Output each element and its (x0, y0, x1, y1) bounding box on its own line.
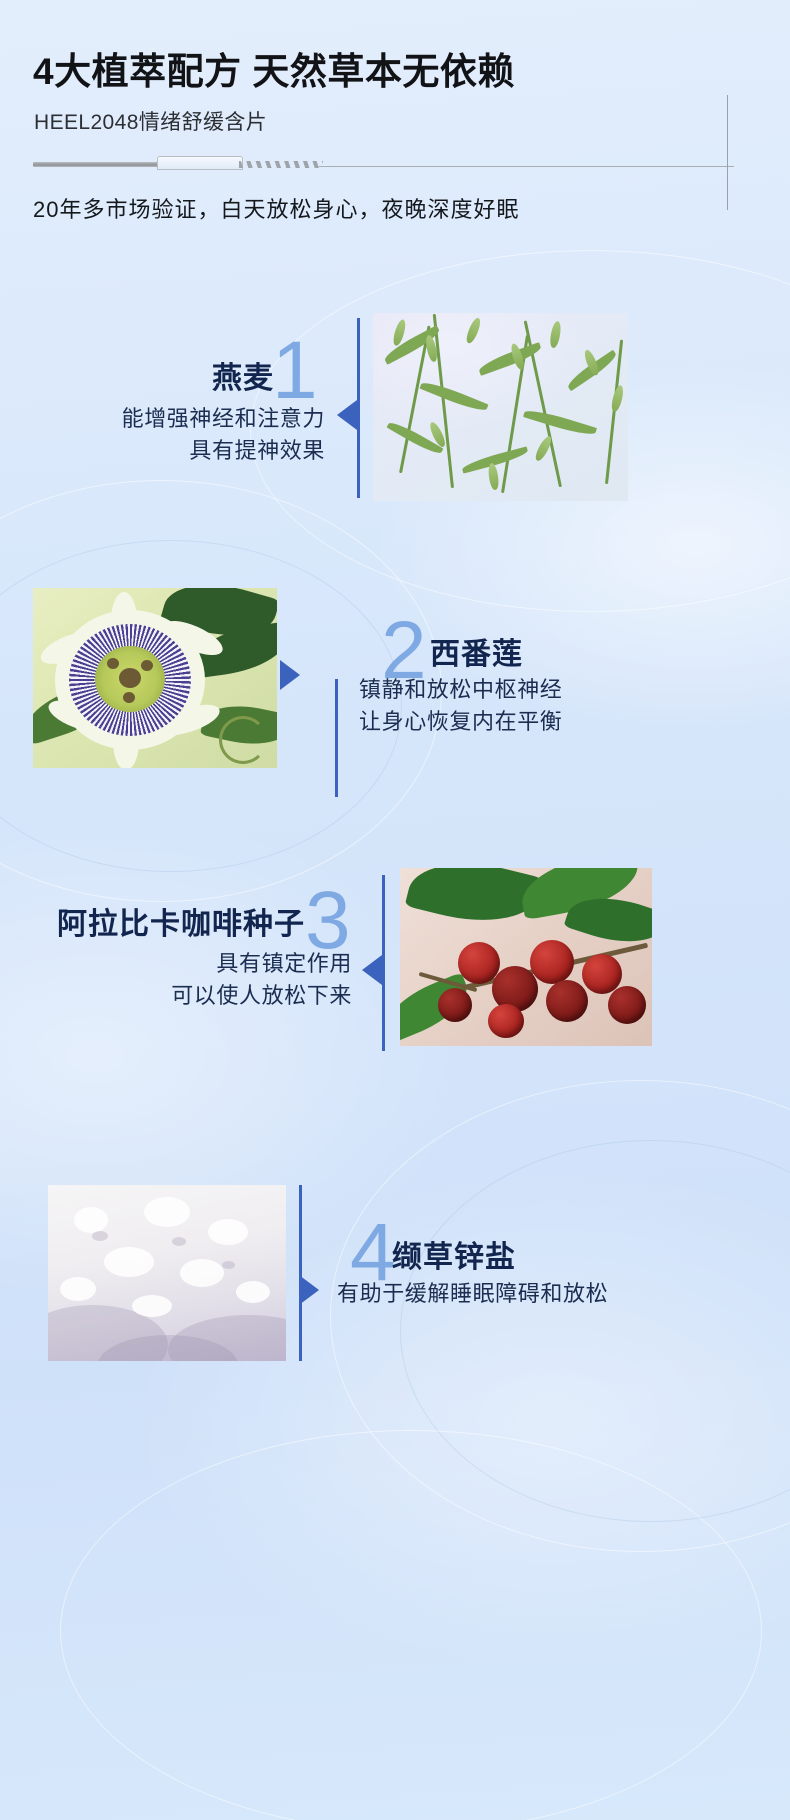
water-swirl-decor (60, 1430, 762, 1820)
section-3-desc-line2: 可以使人放松下来 (0, 980, 352, 1011)
section-4-connector-line (299, 1185, 302, 1361)
section-2-connector-line (335, 679, 338, 797)
water-swirl-decor (400, 1140, 790, 1522)
section-1-number: 1 (272, 330, 318, 412)
section-2-desc-line1: 镇静和放松中枢神经 (359, 674, 562, 705)
section-3-connector-line (382, 875, 385, 1051)
section-2-title: 西番莲 (430, 629, 523, 673)
oat-plant-photo (373, 313, 628, 501)
section-2-desc-line2: 让身心恢复内在平衡 (359, 706, 562, 737)
divider-bar (33, 162, 158, 167)
section-4-arrow-icon (299, 1275, 319, 1305)
section-4-desc-line1: 有助于缓解睡眠障碍和放松 (337, 1278, 608, 1309)
section-3-title: 阿拉比卡咖啡种子 (57, 899, 305, 943)
section-4-title: 缬草锌盐 (392, 1232, 516, 1276)
divider-hatch (239, 161, 323, 168)
coffee-berries-photo (400, 868, 652, 1046)
header-divider (33, 150, 733, 172)
page-subtitle: HEEL2048情绪舒缓含片 (34, 106, 267, 136)
section-1-arrow-icon (337, 400, 357, 430)
infographic-page: 4大植萃配方 天然草本无依赖 HEEL2048情绪舒缓含片 20年多市场验证，白… (0, 0, 790, 1820)
section-2-arrow-icon (280, 660, 300, 690)
section-3-arrow-icon (362, 955, 382, 985)
section-1-desc-line2: 具有提神效果 (0, 435, 325, 466)
valerian-zinc-powder-photo (48, 1185, 286, 1361)
divider-thin-line (319, 166, 733, 167)
divider-notch (157, 156, 243, 169)
water-swirl-decor (330, 1080, 790, 1552)
section-3-desc-line1: 具有镇定作用 (0, 948, 352, 979)
section-1-desc-line1: 能增强神经和注意力 (0, 403, 325, 434)
section-1-connector-line (357, 318, 360, 498)
passionflower-photo (33, 588, 277, 768)
header-tagline: 20年多市场验证，白天放松身心，夜晚深度好眠 (33, 192, 519, 224)
page-title: 4大植萃配方 天然草本无依赖 (33, 41, 515, 95)
divider-vertical-tick (727, 95, 728, 210)
section-1-title: 燕麦 (212, 353, 274, 397)
